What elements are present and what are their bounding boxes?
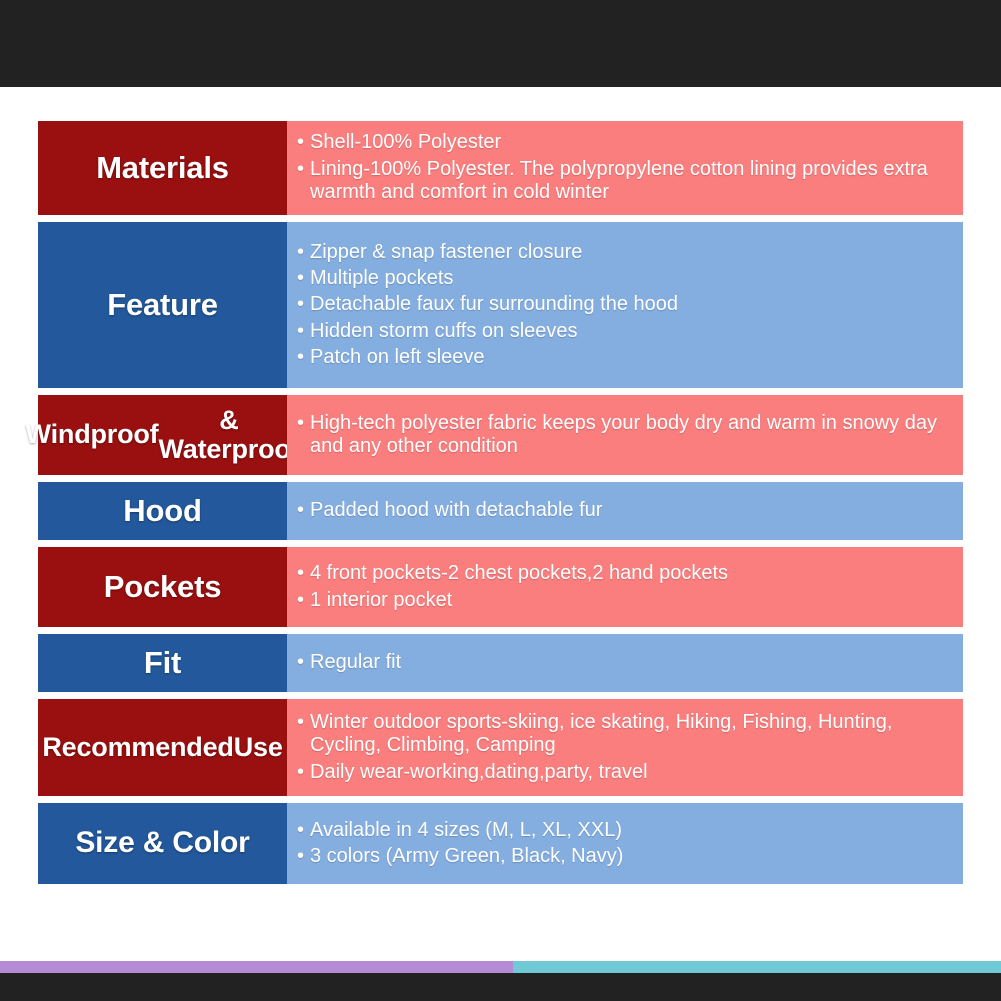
table-row: Pockets •4 front pockets-2 chest pockets… bbox=[38, 547, 963, 627]
bullet-icon: • bbox=[297, 761, 304, 784]
list-item-text: 1 interior pocket bbox=[310, 589, 452, 611]
list-item: •3 colors (Army Green, Black, Navy) bbox=[297, 845, 953, 868]
list-item-text: Shell-100% Polyester bbox=[310, 131, 501, 153]
row-label-hood: Hood bbox=[38, 482, 287, 540]
bullet-list: •4 front pockets-2 chest pockets,2 hand … bbox=[297, 562, 953, 612]
list-item: •Winter outdoor sports-skiing, ice skati… bbox=[297, 711, 953, 758]
bullet-list: •Winter outdoor sports-skiing, ice skati… bbox=[297, 711, 953, 784]
bullet-icon: • bbox=[297, 412, 304, 435]
bullet-list: •Shell-100% Polyester •Lining-100% Polye… bbox=[297, 131, 953, 204]
bullet-list: •High-tech polyester fabric keeps your b… bbox=[297, 412, 953, 459]
bullet-icon: • bbox=[297, 158, 304, 181]
bullet-icon: • bbox=[297, 499, 304, 522]
accent-strip bbox=[0, 961, 1001, 973]
specification-table: Materials •Shell-100% Polyester •Lining-… bbox=[38, 121, 963, 884]
list-item: •1 interior pocket bbox=[297, 589, 953, 612]
accent-strip-purple bbox=[0, 961, 513, 973]
row-content-feature: •Zipper & snap fastener closure •Multipl… bbox=[287, 222, 963, 388]
list-item-text: Daily wear-working,dating,party, travel bbox=[310, 761, 648, 783]
list-item: •Daily wear-working,dating,party, travel bbox=[297, 761, 953, 784]
bullet-icon: • bbox=[297, 320, 304, 343]
row-label-line-2: & Waterproof bbox=[158, 406, 299, 464]
row-label-recommended-use: Recommended Use bbox=[38, 699, 287, 796]
list-item-text: Padded hood with detachable fur bbox=[310, 499, 602, 521]
bullet-icon: • bbox=[297, 819, 304, 842]
row-content-fit: •Regular fit bbox=[287, 634, 963, 692]
bullet-icon: • bbox=[297, 651, 304, 674]
list-item-text: Patch on left sleeve bbox=[310, 346, 485, 368]
list-item: •Available in 4 sizes (M, L, XL, XXL) bbox=[297, 819, 953, 842]
list-item-text: Available in 4 sizes (M, L, XL, XXL) bbox=[310, 819, 622, 841]
list-item-text: Winter outdoor sports-skiing, ice skatin… bbox=[310, 711, 892, 756]
list-item: •Zipper & snap fastener closure bbox=[297, 241, 953, 264]
bullet-icon: • bbox=[297, 711, 304, 734]
list-item-text: Multiple pockets bbox=[310, 267, 453, 289]
bullet-icon: • bbox=[297, 131, 304, 154]
table-row: Feature •Zipper & snap fastener closure … bbox=[38, 222, 963, 388]
bullet-icon: • bbox=[297, 562, 304, 585]
list-item: •High-tech polyester fabric keeps your b… bbox=[297, 412, 953, 459]
row-label-fit: Fit bbox=[38, 634, 287, 692]
list-item-text: Regular fit bbox=[310, 651, 401, 673]
bullet-icon: • bbox=[297, 845, 304, 868]
product-spec-page: Materials •Shell-100% Polyester •Lining-… bbox=[0, 0, 1001, 1001]
list-item-text: Lining-100% Polyester. The polypropylene… bbox=[310, 158, 928, 203]
table-row: Hood •Padded hood with detachable fur bbox=[38, 482, 963, 540]
bullet-list: •Zipper & snap fastener closure •Multipl… bbox=[297, 241, 953, 370]
row-content-windproof-waterproof: •High-tech polyester fabric keeps your b… bbox=[287, 395, 963, 475]
row-label-windproof-waterproof: Windproof & Waterproof bbox=[38, 395, 287, 475]
bullet-icon: • bbox=[297, 293, 304, 316]
list-item-text: Detachable faux fur surrounding the hood bbox=[310, 293, 678, 315]
bullet-list: •Regular fit bbox=[297, 651, 953, 674]
row-content-size-color: •Available in 4 sizes (M, L, XL, XXL) •3… bbox=[287, 803, 963, 884]
list-item-text: Zipper & snap fastener closure bbox=[310, 241, 582, 263]
list-item: •Detachable faux fur surrounding the hoo… bbox=[297, 293, 953, 316]
row-label-line-1: Recommended bbox=[42, 733, 233, 762]
list-item: •Hidden storm cuffs on sleeves bbox=[297, 320, 953, 343]
row-content-pockets: •4 front pockets-2 chest pockets,2 hand … bbox=[287, 547, 963, 627]
bullet-list: •Available in 4 sizes (M, L, XL, XXL) •3… bbox=[297, 819, 953, 869]
table-row: Fit •Regular fit bbox=[38, 634, 963, 692]
bullet-icon: • bbox=[297, 267, 304, 290]
row-label-line-2: Use bbox=[234, 733, 283, 762]
table-row: Materials •Shell-100% Polyester •Lining-… bbox=[38, 121, 963, 215]
row-label-size-color: Size & Color bbox=[38, 803, 287, 884]
list-item: •Multiple pockets bbox=[297, 267, 953, 290]
list-item: •4 front pockets-2 chest pockets,2 hand … bbox=[297, 562, 953, 585]
bullet-list: •Padded hood with detachable fur bbox=[297, 499, 953, 522]
list-item: •Shell-100% Polyester bbox=[297, 131, 953, 154]
row-content-hood: •Padded hood with detachable fur bbox=[287, 482, 963, 540]
row-content-materials: •Shell-100% Polyester •Lining-100% Polye… bbox=[287, 121, 963, 215]
list-item-text: 4 front pockets-2 chest pockets,2 hand p… bbox=[310, 562, 728, 584]
list-item-text: Hidden storm cuffs on sleeves bbox=[310, 320, 578, 342]
row-label-pockets: Pockets bbox=[38, 547, 287, 627]
bottom-letterbox-band bbox=[0, 973, 1001, 1001]
list-item: •Patch on left sleeve bbox=[297, 346, 953, 369]
accent-strip-teal bbox=[513, 961, 1001, 973]
bullet-icon: • bbox=[297, 241, 304, 264]
table-row: Size & Color •Available in 4 sizes (M, L… bbox=[38, 803, 963, 884]
row-label-feature: Feature bbox=[38, 222, 287, 388]
bullet-icon: • bbox=[297, 589, 304, 612]
table-row: Recommended Use •Winter outdoor sports-s… bbox=[38, 699, 963, 796]
row-label-materials: Materials bbox=[38, 121, 287, 215]
list-item: •Padded hood with detachable fur bbox=[297, 499, 953, 522]
list-item-text: 3 colors (Army Green, Black, Navy) bbox=[310, 845, 623, 867]
row-label-line-1: Windproof bbox=[26, 420, 159, 449]
list-item: •Lining-100% Polyester. The polypropylen… bbox=[297, 158, 953, 205]
top-letterbox-band bbox=[0, 0, 1001, 87]
row-content-recommended-use: •Winter outdoor sports-skiing, ice skati… bbox=[287, 699, 963, 796]
list-item-text: High-tech polyester fabric keeps your bo… bbox=[310, 412, 937, 457]
bullet-icon: • bbox=[297, 346, 304, 369]
table-row: Windproof & Waterproof •High-tech polyes… bbox=[38, 395, 963, 475]
list-item: •Regular fit bbox=[297, 651, 953, 674]
